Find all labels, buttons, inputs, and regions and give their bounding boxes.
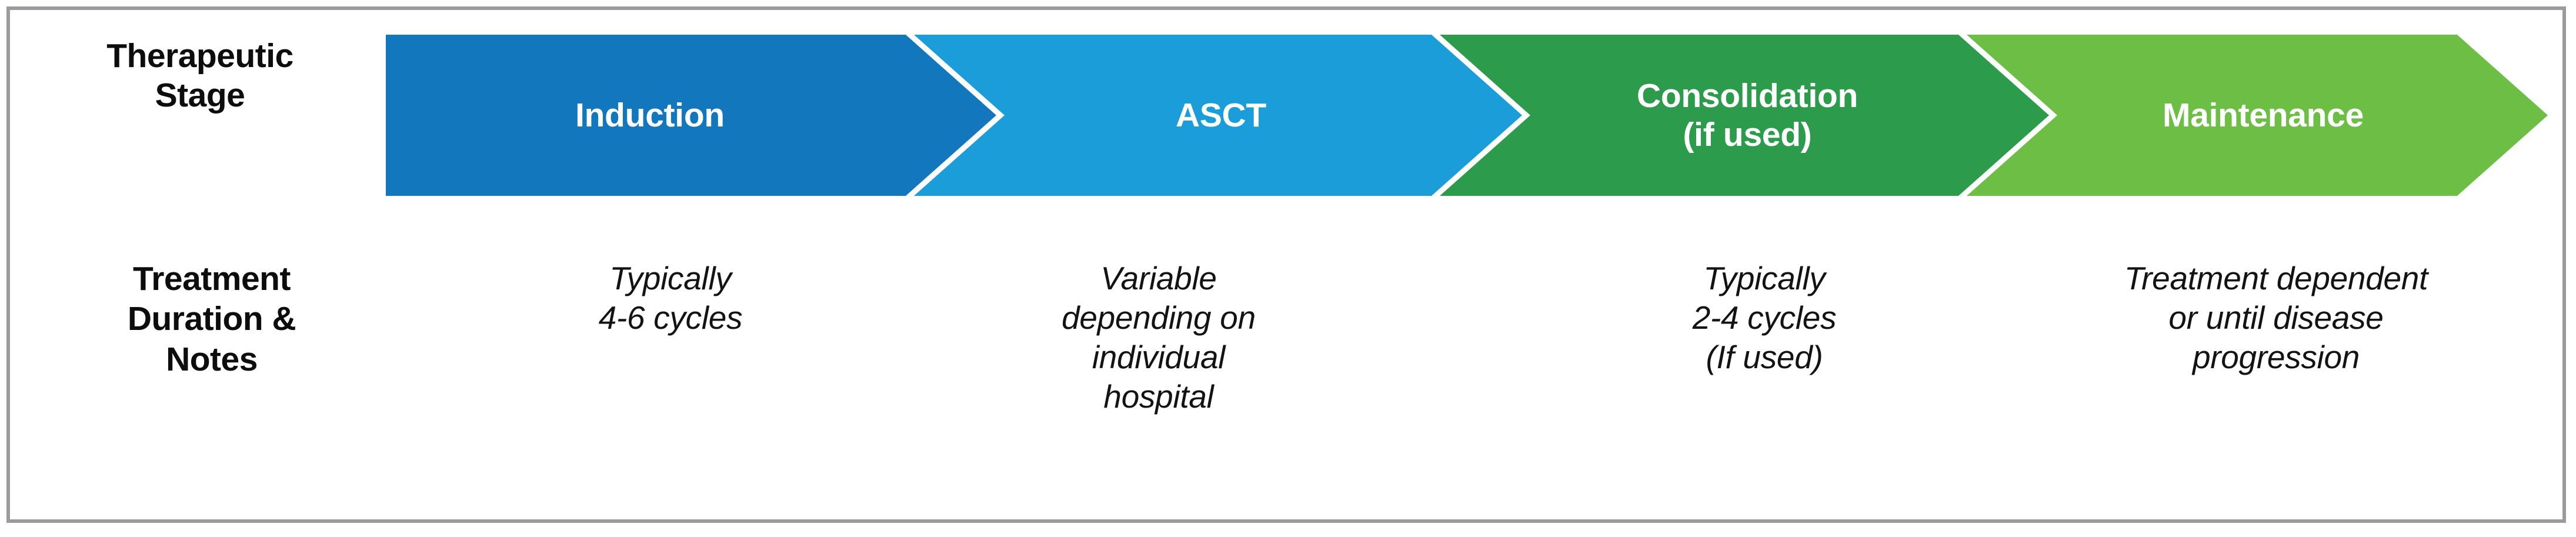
stage-label-consolidation-wrapper: Consolidation (if used) [1637,76,1858,154]
stage-chevron-consolidation[interactable]: Consolidation (if used) [1440,35,2049,196]
notes-line: (If used) [1541,338,1988,377]
treatment-notes-row-label: Treatment Duration & Notes [35,259,388,379]
notes-line: Treatment dependent [2023,259,2529,298]
notes-line: 4-6 cycles [447,298,894,338]
notes-cell-maintenance: Treatment dependent or until disease pro… [2023,259,2529,377]
notes-line: Variable [941,259,1376,298]
notes-line: Typically [1541,259,1988,298]
notes-line: or until disease [2023,298,2529,338]
stage-label-maintenance-line1: Maintenance [2163,96,2364,135]
therapeutic-stage-label-line2: Stage [35,76,365,115]
notes-cell-induction: Typically 4-6 cycles [447,259,894,338]
notes-line: 2-4 cycles [1541,298,1988,338]
treatment-notes-label-line1: Treatment [35,259,388,299]
notes-line: hospital [941,377,1376,416]
notes-line: Typically [447,259,894,298]
stage-chevron-band: Induction ASCT Consolidation (if used) M… [386,35,2548,196]
therapeutic-stage-label-line1: Therapeutic [35,36,365,76]
notes-cell-consolidation: Typically 2-4 cycles (If used) [1541,259,1988,377]
therapeutic-stage-row-label: Therapeutic Stage [35,36,365,116]
diagram-canvas: Therapeutic Stage Induction ASCT Consoli… [0,0,2576,537]
stage-label-induction-line1: Induction [575,96,725,135]
stage-chevron-maintenance[interactable]: Maintenance [1967,35,2548,196]
treatment-notes-label-line3: Notes [35,339,388,379]
stage-chevron-asct[interactable]: ASCT [914,35,1522,196]
stage-label-asct-wrapper: ASCT [1176,96,1266,135]
stage-label-induction-wrapper: Induction [575,96,725,135]
treatment-notes-label-line2: Duration & [35,299,388,339]
notes-line: depending on [941,298,1376,338]
stage-label-consolidation-line1: Consolidation [1637,76,1858,115]
therapeutic-stage-row: Therapeutic Stage Induction ASCT Consoli… [0,0,2576,235]
stage-label-maintenance-wrapper: Maintenance [2163,96,2364,135]
notes-line: individual [941,338,1376,377]
notes-line: progression [2023,338,2529,377]
notes-cell-asct: Variable depending on individual hospita… [941,259,1376,416]
stage-label-consolidation-line2: (if used) [1637,115,1858,154]
treatment-notes-row: Treatment Duration & Notes Typically 4-6… [0,235,2576,529]
stage-chevron-induction[interactable]: Induction [386,35,996,196]
stage-label-asct-line1: ASCT [1176,96,1266,135]
